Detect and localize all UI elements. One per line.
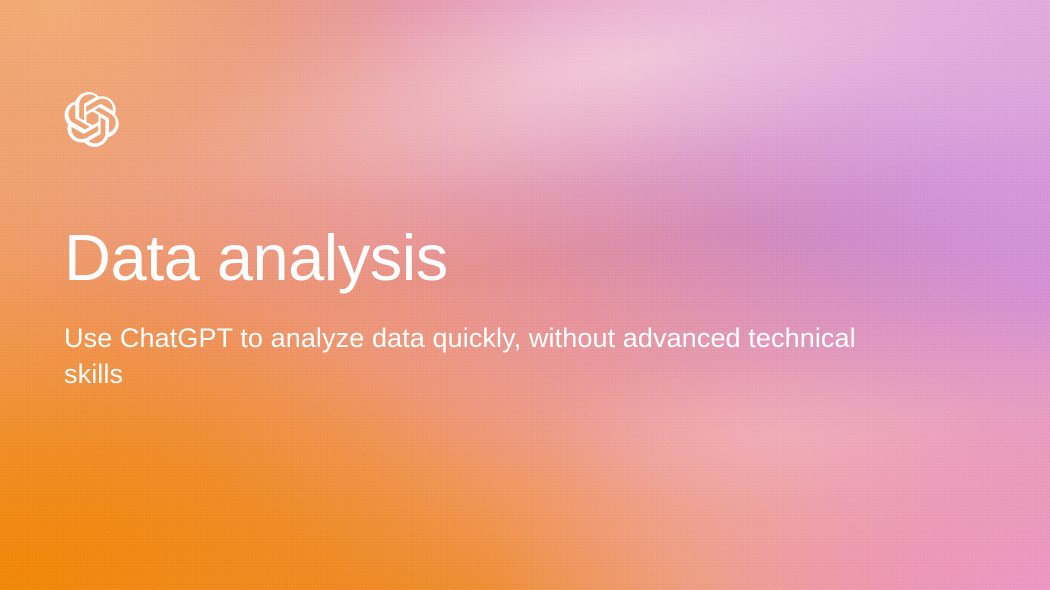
- page-title: Data analysis: [64, 224, 448, 292]
- slide-content: Data analysis Use ChatGPT to analyze dat…: [0, 0, 1050, 590]
- openai-logo-icon: [64, 92, 119, 147]
- title-slide: Data analysis Use ChatGPT to analyze dat…: [0, 0, 1050, 590]
- page-subtitle: Use ChatGPT to analyze data quickly, wit…: [64, 320, 914, 392]
